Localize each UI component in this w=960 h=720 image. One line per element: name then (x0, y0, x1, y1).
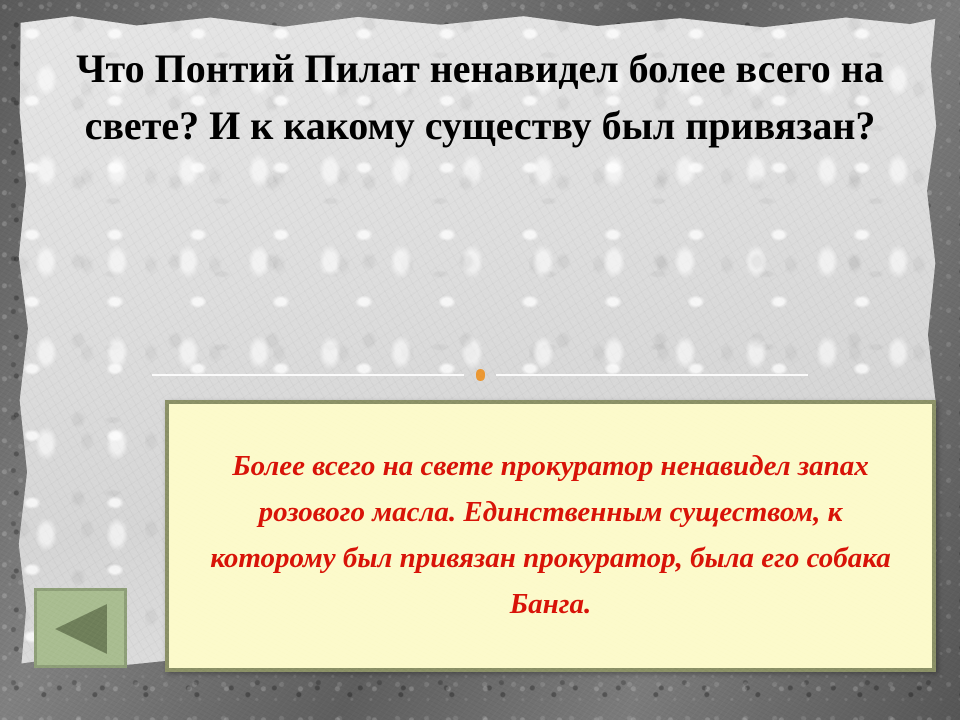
question-title: Что Понтий Пилат ненавидел более всего н… (62, 40, 898, 154)
diamond-dot-icon (476, 369, 485, 381)
back-button[interactable] (34, 588, 127, 668)
divider-rule-left (152, 374, 464, 376)
presentation-slide: Что Понтий Пилат ненавидел более всего н… (0, 0, 960, 720)
triangle-left-icon (55, 604, 107, 654)
answer-panel: Более всего на свете прокуратор ненавиде… (165, 400, 936, 672)
answer-text: Более всего на свете прокуратор ненавиде… (169, 444, 932, 627)
divider-rule-right (496, 374, 808, 376)
section-divider (152, 369, 808, 381)
